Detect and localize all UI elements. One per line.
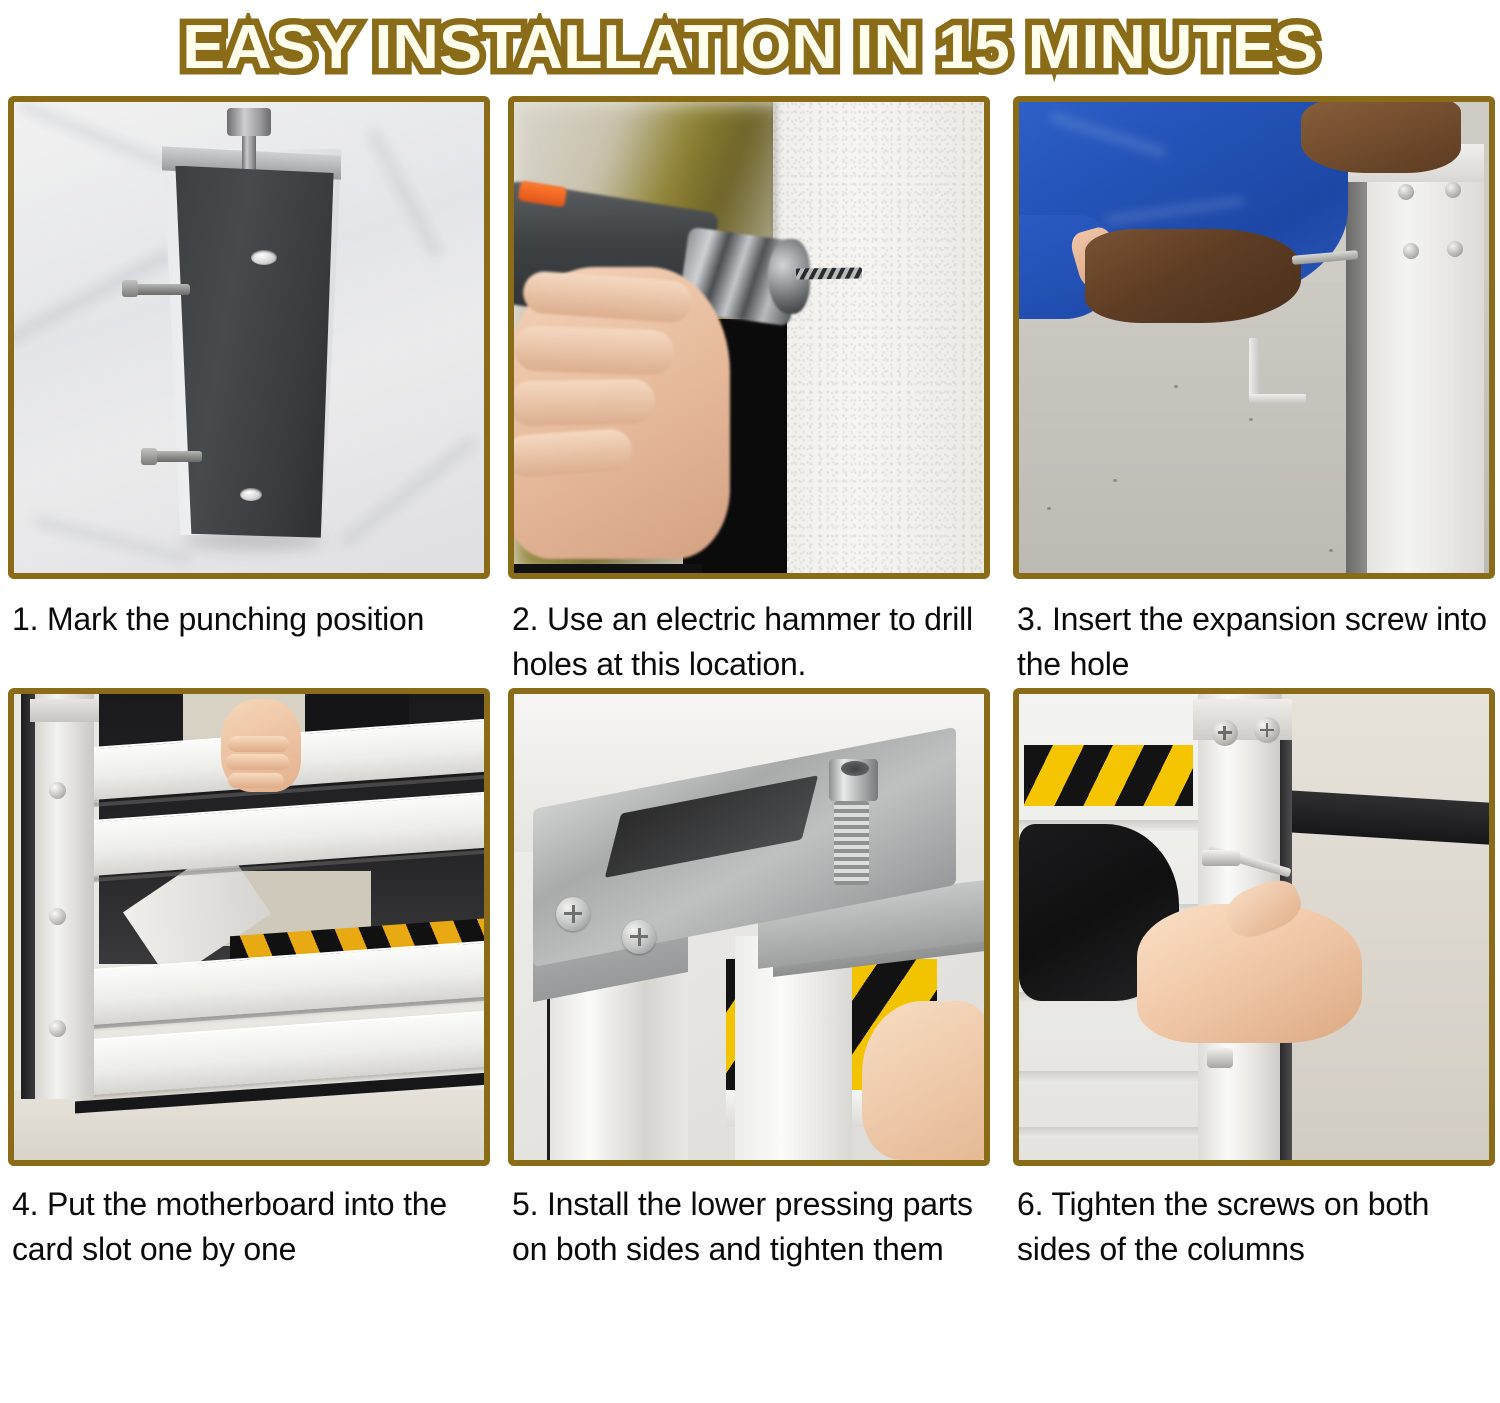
step-3-caption: 3. Insert the expansion screw into the h… (1013, 579, 1500, 688)
hex-key (1249, 338, 1260, 399)
drill-bit (796, 267, 862, 279)
hex-bolt (834, 801, 869, 885)
tighten-column-screws-photo (1019, 694, 1489, 1160)
step-3-photo-frame (1013, 96, 1495, 579)
phillips-screw (622, 920, 656, 954)
step-4-photo-frame (8, 688, 490, 1166)
drill-holes-photo (514, 102, 984, 573)
step-4: 4. Put the motherboard into the card slo… (8, 688, 503, 1273)
step-2-photo-frame (508, 96, 990, 579)
phillips-screw (1254, 717, 1280, 743)
step-2: 2. Use an electric hammer to drill holes… (508, 96, 1008, 688)
insert-expansion-screw-photo (1019, 102, 1489, 573)
step-5-photo-frame (508, 688, 990, 1166)
install-pressing-parts-photo (514, 694, 984, 1160)
step-1-caption: 1. Mark the punching position (8, 579, 503, 642)
mark-punching-position-photo (14, 102, 484, 573)
phillips-screw (556, 897, 590, 931)
hazard-stripe (1024, 745, 1193, 806)
step-1-photo-frame (8, 96, 490, 579)
insert-motherboard-photo (14, 694, 484, 1160)
banner: EASY INSTALLATION IN 15 MINUTES (0, 0, 1500, 96)
step-6-caption: 6. Tighten the screws on both sides of t… (1013, 1166, 1500, 1273)
step-4-caption: 4. Put the motherboard into the card slo… (8, 1166, 503, 1273)
phillips-screw (1212, 720, 1238, 746)
step-6: 6. Tighten the screws on both sides of t… (1013, 688, 1500, 1273)
step-3: 3. Insert the expansion screw into the h… (1013, 96, 1500, 688)
marking-hole-lower (240, 488, 262, 501)
step-1: 1. Mark the punching position (8, 96, 503, 688)
installation-steps-grid: 1. Mark the punching position (0, 96, 1500, 1273)
step-5: 5. Install the lower pressing parts on b… (508, 688, 1008, 1273)
step-5-caption: 5. Install the lower pressing parts on b… (508, 1166, 1008, 1273)
step-6-photo-frame (1013, 688, 1495, 1166)
step-2-caption: 2. Use an electric hammer to drill holes… (508, 579, 1008, 688)
page-title: EASY INSTALLATION IN 15 MINUTES (182, 17, 1318, 79)
